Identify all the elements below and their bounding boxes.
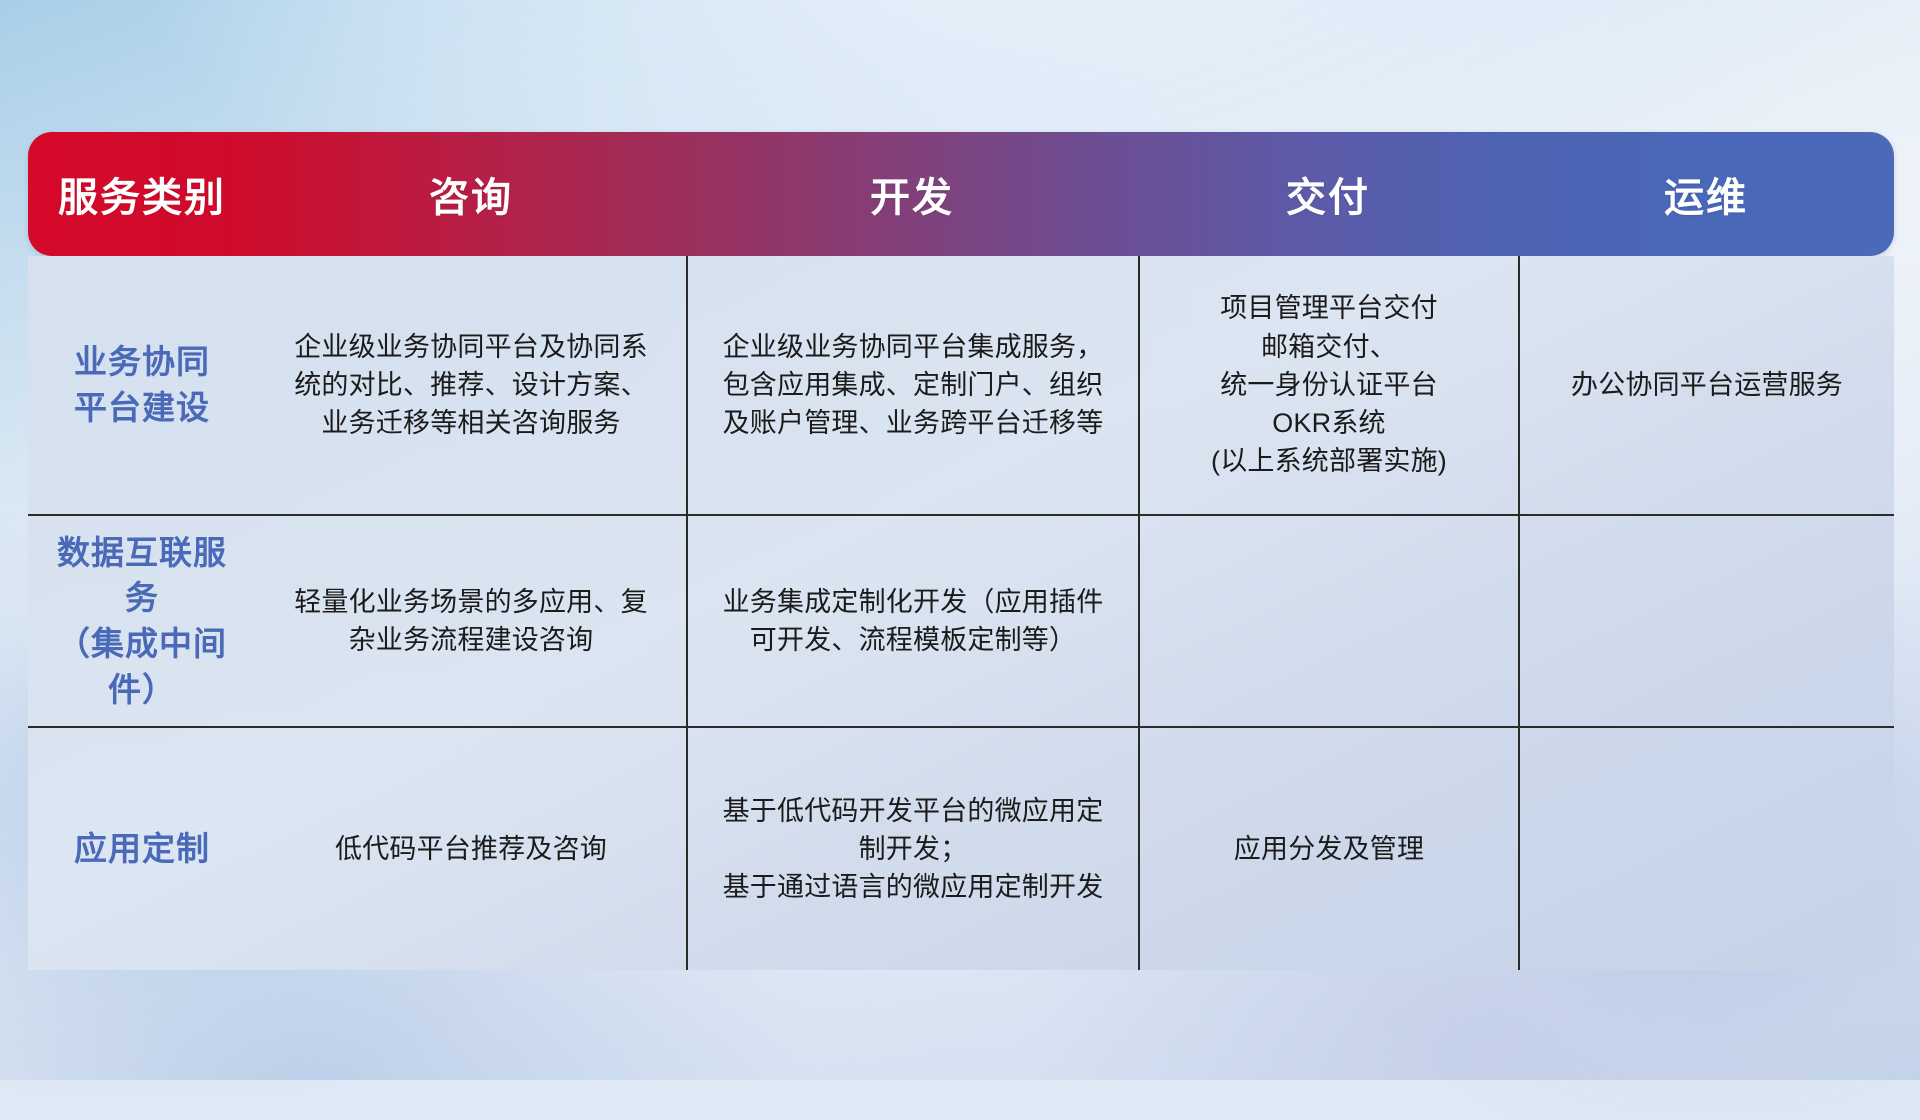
cell-operations: 办公协同平台运营服务 <box>1518 256 1894 514</box>
cell-operations <box>1518 516 1894 726</box>
column-header-category: 服务类别 <box>28 132 256 256</box>
cell-consulting: 低代码平台推荐及咨询 <box>256 728 686 970</box>
table-row: 业务协同 平台建设 企业级业务协同平台及协同系 统的对比、推荐、设计方案、 业务… <box>28 256 1894 514</box>
cell-operations <box>1518 728 1894 970</box>
service-matrix-table: 服务类别 咨询 开发 交付 运维 业务协同 平台建设 企业级业务协同平台及协同系… <box>28 132 1894 970</box>
table-body: 业务协同 平台建设 企业级业务协同平台及协同系 统的对比、推荐、设计方案、 业务… <box>28 256 1894 970</box>
column-header-delivery: 交付 <box>1138 132 1518 256</box>
table-header-row: 服务类别 咨询 开发 交付 运维 <box>28 132 1894 256</box>
cell-category: 应用定制 <box>28 728 256 970</box>
cell-delivery <box>1138 516 1518 726</box>
table-row: 数据互联服务 （集成中间件） 轻量化业务场景的多应用、复 杂业务流程建设咨询 业… <box>28 514 1894 726</box>
cell-development: 业务集成定制化开发（应用插件 可开发、流程模板定制等） <box>686 516 1138 726</box>
column-header-operations: 运维 <box>1518 132 1894 256</box>
cell-consulting: 企业级业务协同平台及协同系 统的对比、推荐、设计方案、 业务迁移等相关咨询服务 <box>256 256 686 514</box>
cell-development: 企业级业务协同平台集成服务， 包含应用集成、定制门户、组织 及账户管理、业务跨平… <box>686 256 1138 514</box>
column-header-consulting: 咨询 <box>256 132 686 256</box>
column-header-development: 开发 <box>686 132 1138 256</box>
cell-development: 基于低代码开发平台的微应用定 制开发； 基于通过语言的微应用定制开发 <box>686 728 1138 970</box>
cell-category: 业务协同 平台建设 <box>28 256 256 514</box>
table-row: 应用定制 低代码平台推荐及咨询 基于低代码开发平台的微应用定 制开发； 基于通过… <box>28 726 1894 970</box>
cell-consulting: 轻量化业务场景的多应用、复 杂业务流程建设咨询 <box>256 516 686 726</box>
cell-category: 数据互联服务 （集成中间件） <box>28 516 256 726</box>
cell-delivery: 应用分发及管理 <box>1138 728 1518 970</box>
cell-delivery: 项目管理平台交付 邮箱交付、 统一身份认证平台 OKR系统 (以上系统部署实施) <box>1138 256 1518 514</box>
